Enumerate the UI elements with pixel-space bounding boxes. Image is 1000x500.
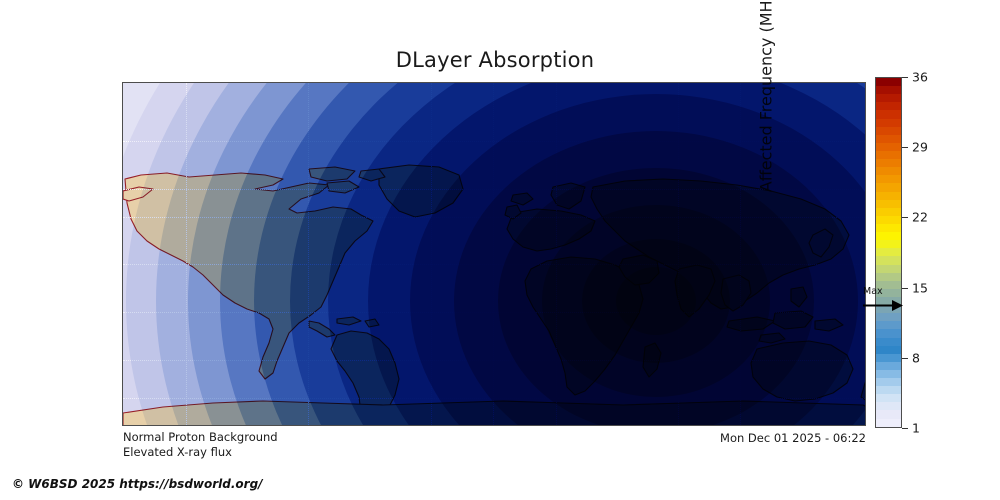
colorbar-tick <box>902 358 908 359</box>
colorbar-segment <box>876 200 901 208</box>
colorbar-segment <box>876 183 901 191</box>
colorbar-segment <box>876 410 901 418</box>
colorbar-segment <box>876 143 901 151</box>
colorbar-segment <box>876 346 901 354</box>
colorbar-tick-label: 15 <box>912 280 928 295</box>
colorbar-segment <box>876 94 901 102</box>
timestamp-label: Mon Dec 01 2025 - 06:22 <box>720 431 866 445</box>
colorbar-segment <box>876 394 901 402</box>
colorbar-tick-labels: 3629221581 <box>902 70 962 440</box>
colorbar-segment <box>876 192 901 200</box>
colorbar-segment <box>876 338 901 346</box>
colorbar-segment <box>876 378 901 386</box>
colorbar-segment <box>876 248 901 256</box>
colorbar-segment <box>876 102 901 110</box>
colorbar-segment <box>876 119 901 127</box>
note-xray-flux: Elevated X-ray flux <box>123 445 232 459</box>
colorbar-tick <box>902 428 908 429</box>
colorbar-tick <box>902 77 908 78</box>
colorbar-segment <box>876 86 901 94</box>
colorbar-segment <box>876 135 901 143</box>
colorbar-segment <box>876 256 901 264</box>
colorbar-segment <box>876 265 901 273</box>
note-proton-background: Normal Proton Background <box>123 430 278 444</box>
colorbar-segment <box>876 329 901 337</box>
page-title: DLayer Absorption <box>0 48 990 72</box>
colorbar-segment <box>876 321 901 329</box>
colorbar-segment <box>876 208 901 216</box>
colorbar-tick-label: 22 <box>912 210 928 225</box>
max-marker-label: Max <box>863 286 883 297</box>
colorbar-segment <box>876 216 901 224</box>
colorbar-segment <box>876 127 901 135</box>
colorbar-max-marker: Max <box>861 286 906 312</box>
colorbar-segment <box>876 151 901 159</box>
colorbar-tick <box>902 147 908 148</box>
colorbar[interactable] <box>875 77 902 428</box>
colorbar-tick-label: 1 <box>912 421 920 436</box>
colorbar-segment <box>876 232 901 240</box>
colorbar-segment <box>876 354 901 362</box>
colorbar-tick-label: 29 <box>912 140 928 155</box>
max-arrow-icon <box>863 299 903 312</box>
colorbar-segment <box>876 240 901 248</box>
colorbar-segment <box>876 224 901 232</box>
colorbar-segment <box>876 313 901 321</box>
colorbar-segment <box>876 419 901 427</box>
colorbar-tick <box>902 217 908 218</box>
colorbar-segment <box>876 370 901 378</box>
colorbar-segment <box>876 386 901 394</box>
colorbar-segment <box>876 402 901 410</box>
colorbar-tick-label: 36 <box>912 70 928 85</box>
colorbar-segment <box>876 167 901 175</box>
colorbar-segment <box>876 78 901 86</box>
colorbar-segment <box>876 110 901 118</box>
copyright-label: © W6BSD 2025 https://bsdworld.org/ <box>12 477 263 491</box>
colorbar-axis-label: Affected Frequency (MHz) <box>755 0 779 265</box>
colorbar-segment <box>876 159 901 167</box>
colorbar-tick-label: 8 <box>912 350 920 365</box>
colorbar-segment <box>876 273 901 281</box>
colorbar-segment <box>876 362 901 370</box>
colorbar-segment <box>876 175 901 183</box>
